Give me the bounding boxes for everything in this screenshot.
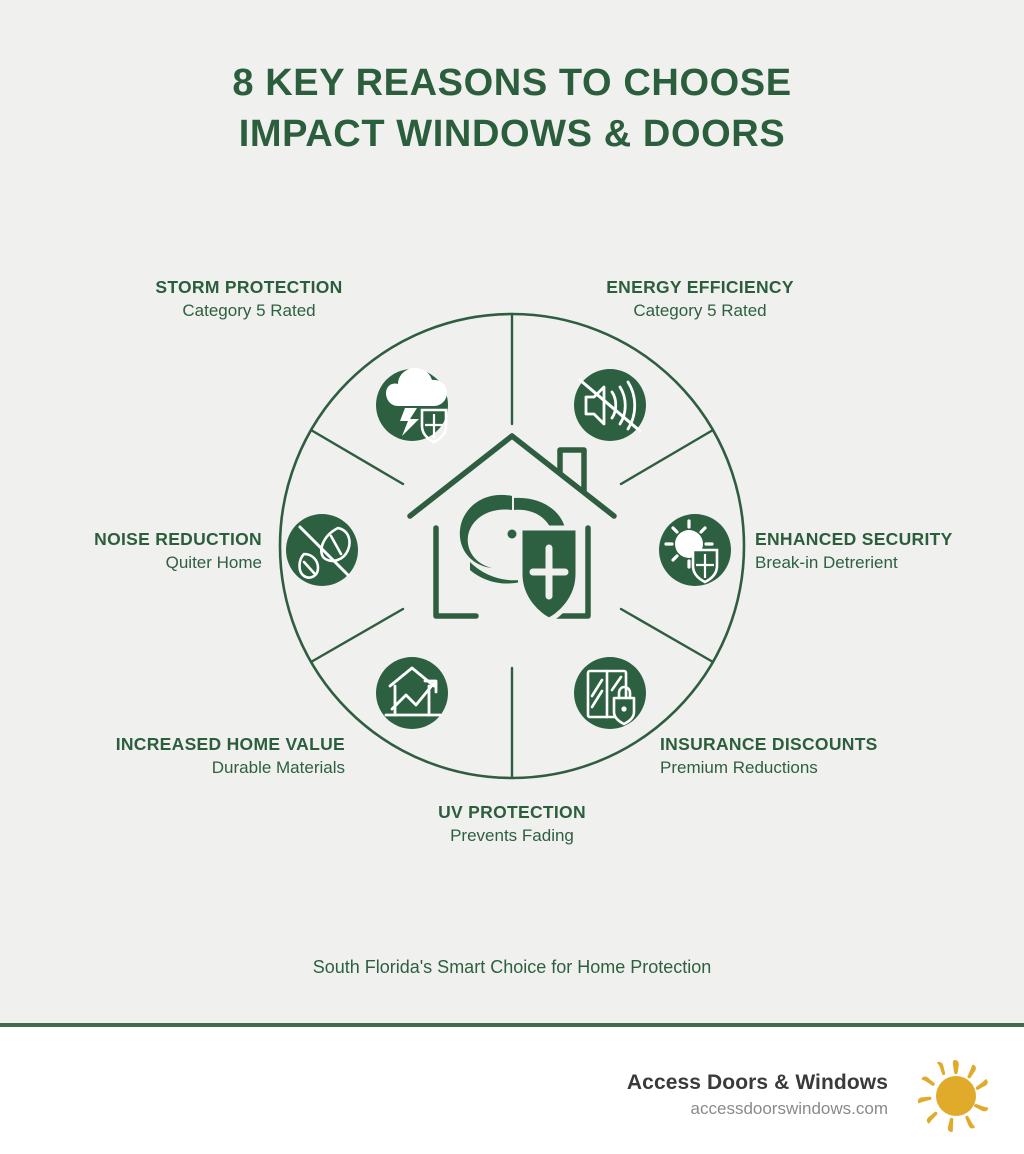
feature-label-insurance-discounts: INSURANCE DISCOUNTS Premium Reductions	[660, 733, 990, 780]
title-line-1: 8 KEY REASONS TO CHOOSE	[0, 58, 1024, 109]
feature-subtitle-noise-reduction: Quiter Home	[0, 550, 262, 575]
brand-name: Access Doors & Windows	[627, 1069, 888, 1097]
icon-increased-home-value	[376, 657, 448, 729]
feature-label-noise-reduction: NOISE REDUCTION Quiter Home	[0, 528, 262, 575]
feature-label-storm-protection: STORM PROTECTION Category 5 Rated	[84, 276, 414, 323]
wheel-divider-lines	[311, 314, 713, 778]
feature-subtitle-energy-efficiency: Category 5 Rated	[535, 298, 865, 323]
icon-insurance-discounts	[574, 657, 646, 729]
feature-title-increased-home-value: INCREASED HOME VALUE	[15, 733, 345, 755]
footer-branding: Access Doors & Windows accessdoorswindow…	[627, 1052, 996, 1138]
feature-title-insurance-discounts: INSURANCE DISCOUNTS	[660, 733, 990, 755]
footer-text-block: Access Doors & Windows accessdoorswindow…	[627, 1069, 888, 1121]
feature-label-energy-efficiency: ENERGY EFFICIENCY Category 5 Rated	[535, 276, 865, 323]
feature-title-enhanced-security: ENHANCED SECURITY	[755, 528, 1024, 550]
icon-energy-efficiency	[574, 369, 646, 441]
footer-bar: Access Doors & Windows accessdoorswindow…	[0, 1027, 1024, 1154]
feature-title-noise-reduction: NOISE REDUCTION	[0, 528, 262, 550]
sun-icon	[910, 1052, 996, 1138]
feature-label-enhanced-security: ENHANCED SECURITY Break-in Detrerient	[755, 528, 1024, 575]
feature-subtitle-insurance-discounts: Premium Reductions	[660, 755, 990, 780]
feature-subtitle-uv-protection: Prevents Fading	[347, 823, 677, 848]
feature-subtitle-enhanced-security: Break-in Detrerient	[755, 550, 1024, 575]
feature-label-increased-home-value: INCREASED HOME VALUE Durable Materials	[15, 733, 345, 780]
brand-url[interactable]: accessdoorswindows.com	[627, 1097, 888, 1121]
feature-title-energy-efficiency: ENERGY EFFICIENCY	[535, 276, 865, 298]
page-title: 8 KEY REASONS TO CHOOSE IMPACT WINDOWS &…	[0, 58, 1024, 160]
feature-label-uv-protection: UV PROTECTION Prevents Fading	[347, 801, 677, 848]
title-line-2: IMPACT WINDOWS & DOORS	[0, 109, 1024, 160]
feature-title-uv-protection: UV PROTECTION	[347, 801, 677, 823]
feature-title-storm-protection: STORM PROTECTION	[84, 276, 414, 298]
center-shield-glyph	[520, 528, 578, 620]
infographic-main-panel: 8 KEY REASONS TO CHOOSE IMPACT WINDOWS &…	[0, 0, 1024, 1023]
icon-storm-protection	[376, 368, 448, 442]
tagline-text: South Florida's Smart Choice for Home Pr…	[0, 957, 1024, 978]
feature-subtitle-storm-protection: Category 5 Rated	[84, 298, 414, 323]
icon-noise-reduction	[286, 514, 358, 586]
icon-enhanced-security	[659, 514, 731, 586]
feature-subtitle-increased-home-value: Durable Materials	[15, 755, 345, 780]
feature-wheel-diagram: STORM PROTECTION Category 5 Rated ENERGY…	[0, 228, 1024, 928]
